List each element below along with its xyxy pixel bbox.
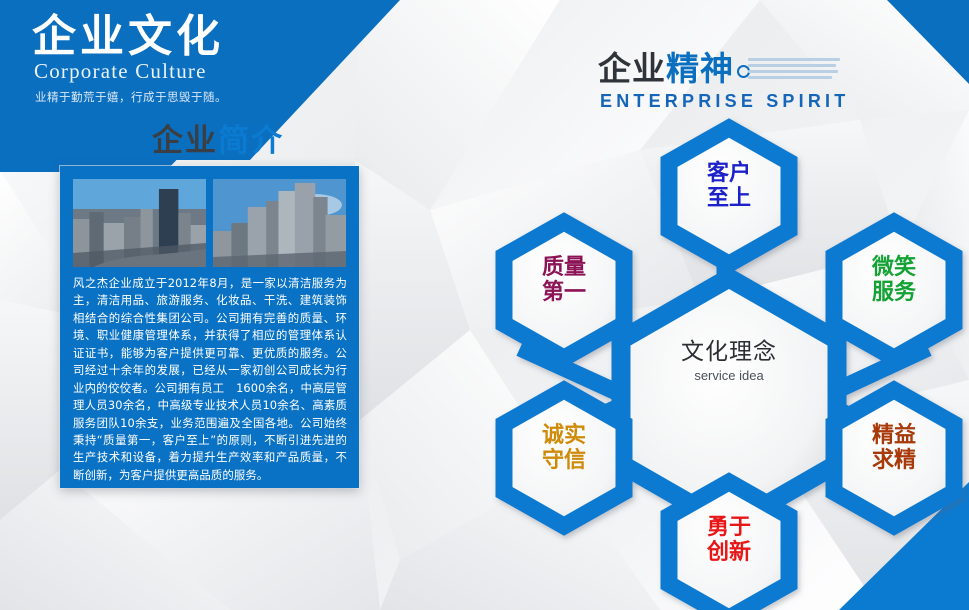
- enterprise-spirit-title-part-blue: 精神: [666, 49, 734, 88]
- page-title-company-profile: 企业简介: [152, 115, 284, 160]
- culture-hexagon-diagram: 文化理念 service idea 客户 至上 微笑 服务 精益 求精 勇于 创…: [480, 100, 969, 610]
- poster-canvas: 企业文化 Corporate Culture 业精于勤荒于嬉，行成于思毁于随。 …: [0, 0, 969, 610]
- deco-line-2: [748, 64, 836, 67]
- profile-photo-row: [60, 166, 359, 267]
- center-label-en: service idea: [619, 368, 839, 383]
- header-left: 企业文化 Corporate Culture 业精于勤荒于嬉，行成于思毁于随。: [32, 12, 362, 105]
- enterprise-spirit-title-part-dark: 企业: [598, 49, 666, 88]
- center-label-cn: 文化理念: [619, 332, 839, 366]
- company-profile-card: 风之杰企业成立于2012年8月，是一家以清洁服务为主，清洁用品、旅游服务、化妆品…: [60, 166, 359, 488]
- deco-line-4: [748, 76, 832, 79]
- decorative-text-lines: [748, 58, 840, 82]
- cityscape-photo-2: [213, 179, 346, 267]
- company-profile-body: 风之杰企业成立于2012年8月，是一家以清洁服务为主，清洁用品、旅游服务、化妆品…: [60, 267, 359, 484]
- cityscape-photo-1: [73, 179, 206, 267]
- deco-line-1: [748, 58, 840, 61]
- corporate-culture-title-en: Corporate Culture: [34, 59, 362, 84]
- corporate-culture-subtitle: 业精于勤荒于嬉，行成于思毁于随。: [35, 89, 362, 105]
- page-title-part-dark: 企业: [152, 123, 218, 159]
- corporate-culture-title-cn: 企业文化: [32, 12, 362, 61]
- deco-line-3: [748, 70, 838, 73]
- page-title-part-blue: 简介: [218, 123, 284, 159]
